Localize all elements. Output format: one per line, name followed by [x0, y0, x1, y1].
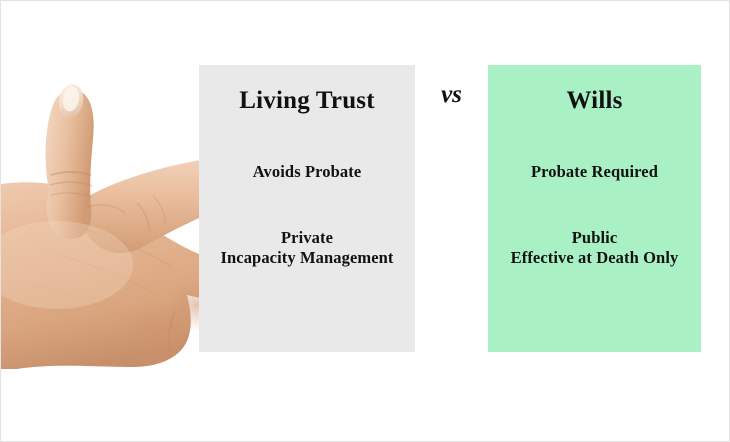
- infographic-canvas: Living Trust Avoids Probate Private Inca…: [0, 0, 730, 442]
- panel-living-trust: Living Trust Avoids Probate Private Inca…: [199, 65, 415, 352]
- panel-living-trust-item-3: Incapacity Management: [220, 248, 393, 268]
- panel-wills: Wills Probate Required Public Effective …: [488, 65, 701, 352]
- panel-living-trust-item-2: Private: [281, 228, 333, 248]
- panel-living-trust-title: Living Trust: [239, 87, 375, 115]
- versus-label: vs: [415, 80, 488, 110]
- panel-wills-item-1: Probate Required: [531, 162, 658, 182]
- panel-living-trust-item-1: Avoids Probate: [253, 162, 362, 182]
- panel-wills-item-2: Public: [572, 228, 618, 248]
- panel-wills-title: Wills: [566, 87, 622, 115]
- panel-wills-item-3: Effective at Death Only: [511, 248, 679, 268]
